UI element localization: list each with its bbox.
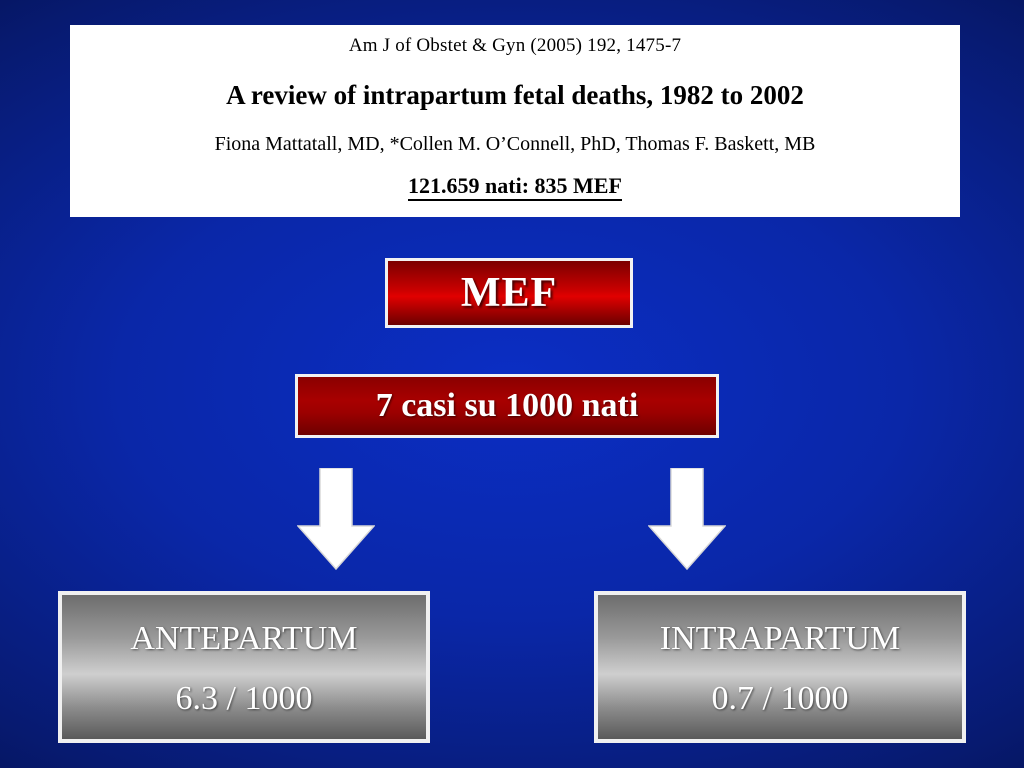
mef-box: MEF bbox=[385, 258, 633, 328]
intrapartum-box: INTRAPARTUM 0.7 / 1000 bbox=[594, 591, 966, 743]
births-deaths-count: 121.659 nati: 835 MEF bbox=[70, 173, 960, 199]
intrapartum-value: 0.7 / 1000 bbox=[712, 679, 849, 720]
antepartum-value: 6.3 / 1000 bbox=[176, 679, 313, 720]
rate-box-label: 7 casi su 1000 nati bbox=[376, 387, 639, 425]
journal-reference: Am J of Obstet & Gyn (2005) 192, 1475-7 bbox=[70, 35, 960, 57]
paper-title: A review of intrapartum fetal deaths, 19… bbox=[70, 80, 960, 111]
author-list: Fiona Mattatall, MD, *Collen M. O’Connel… bbox=[70, 133, 960, 156]
antepartum-box: ANTEPARTUM 6.3 / 1000 bbox=[58, 591, 430, 743]
births-deaths-count-text: 121.659 nati: 835 MEF bbox=[408, 173, 622, 201]
intrapartum-title: INTRAPARTUM bbox=[660, 618, 900, 661]
rate-box: 7 casi su 1000 nati bbox=[295, 374, 719, 438]
down-arrow-icon bbox=[648, 468, 726, 570]
header-panel: Am J of Obstet & Gyn (2005) 192, 1475-7 … bbox=[70, 25, 960, 217]
down-arrow-icon bbox=[297, 468, 375, 570]
antepartum-title: ANTEPARTUM bbox=[130, 618, 357, 661]
slide-canvas: Am J of Obstet & Gyn (2005) 192, 1475-7 … bbox=[0, 0, 1024, 768]
mef-box-label: MEF bbox=[461, 269, 557, 317]
